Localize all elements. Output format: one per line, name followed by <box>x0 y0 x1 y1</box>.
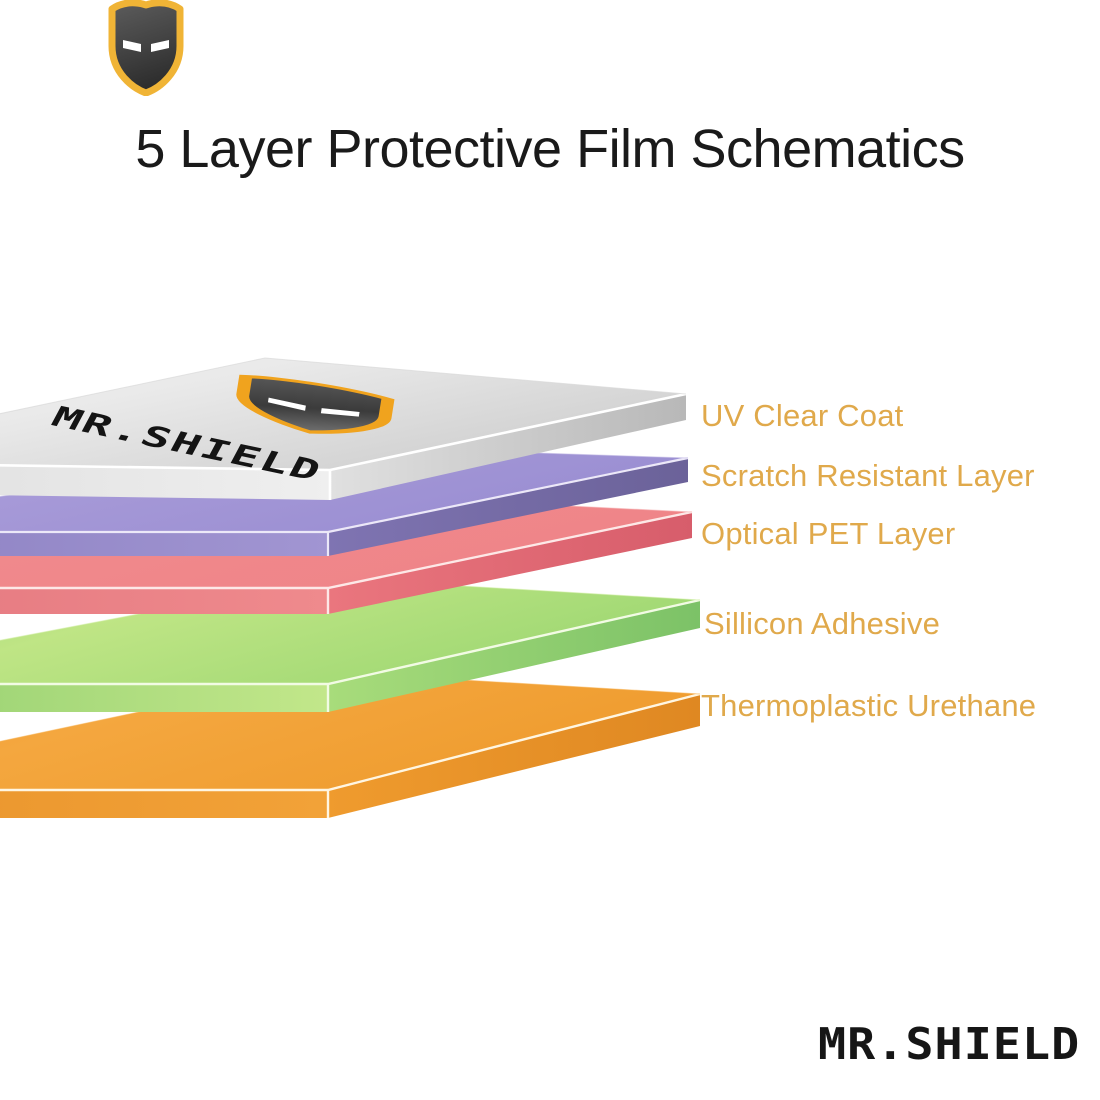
layer-label-thermoplastic-urethane: Thermoplastic Urethane <box>701 688 1036 724</box>
brand-shield-logo <box>106 0 186 96</box>
layer-label-scratch-resistant-layer: Scratch Resistant Layer <box>701 458 1035 494</box>
layer-label-uv-clear-coat: UV Clear Coat <box>701 398 903 434</box>
layer-label-optical-pet-layer: Optical PET Layer <box>701 516 955 552</box>
schematic-canvas: 5 Layer Protective Film Schematics <box>0 0 1100 1100</box>
brand-wordmark: MR.SHIELD <box>818 1019 1080 1070</box>
layer-label-sillicon-adhesive: Sillicon Adhesive <box>704 606 940 642</box>
